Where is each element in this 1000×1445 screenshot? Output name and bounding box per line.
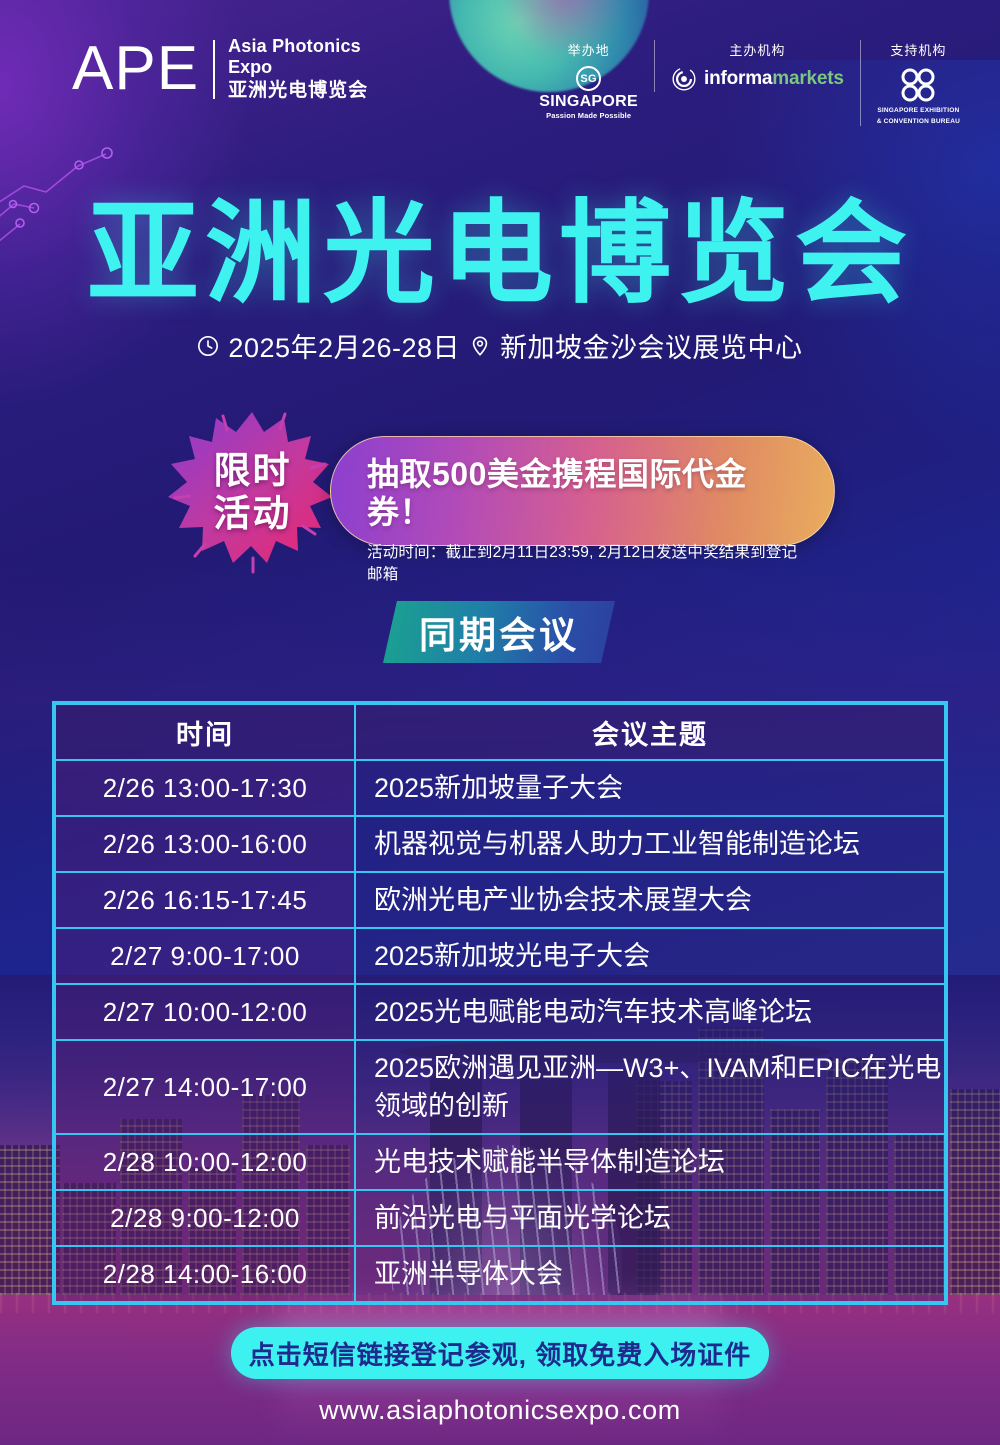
- cell-time: 2/27 10:00-12:00: [55, 984, 355, 1040]
- logo-abbreviation: APE: [72, 36, 199, 103]
- website-url[interactable]: www.asiaphotonicsexpo.com: [0, 1395, 1000, 1426]
- secb-name-line1: SINGAPORE EXHIBITION: [877, 107, 959, 115]
- secb-name-line2: & CONVENTION BUREAU: [877, 118, 960, 126]
- table-row: 2/28 10:00-12:00 光电技术赋能半导体制造论坛: [55, 1134, 945, 1190]
- column-header-topic: 会议主题: [355, 704, 945, 760]
- cell-topic: 光电技术赋能半导体制造论坛: [355, 1134, 945, 1190]
- ape-logo: APE Asia Photonics Expo 亚洲光电博览会: [72, 36, 368, 103]
- partner-organizer-label: 主办机构: [729, 40, 785, 59]
- register-cta-label: 点击短信链接登记参观, 领取免费入场证件: [249, 1335, 751, 1372]
- cell-topic: 亚洲半导体大会: [355, 1246, 945, 1302]
- cell-topic: 机器视觉与机器人助力工业智能制造论坛: [355, 816, 945, 872]
- badge-line-2: 活动: [214, 492, 292, 535]
- promo-headline: 抽取500美金携程国际代金券！: [367, 455, 808, 531]
- partner-venue: 举办地 SG SINGAPORE Passion Made Possible: [523, 40, 654, 120]
- table-row: 2/26 16:15-17:45 欧洲光电产业协会技术展望大会: [55, 872, 945, 928]
- cell-time: 2/28 10:00-12:00: [55, 1134, 355, 1190]
- cell-topic: 2025新加坡光电子大会: [355, 928, 945, 984]
- singapore-tagline: Passion Made Possible: [546, 111, 631, 120]
- event-venue: 新加坡金沙会议展览中心: [500, 326, 803, 365]
- limited-time-badge-text: 限时 活动: [214, 449, 292, 535]
- section-header-concurrent-conferences: 同期会议: [383, 601, 615, 663]
- cell-time: 2/28 9:00-12:00: [55, 1190, 355, 1246]
- logo-divider: [213, 40, 215, 99]
- badge-line-1: 限时: [214, 449, 292, 492]
- hero-block: 亚洲光电博览会 2025年2月26-28日 新加坡金沙会议展览中心: [0, 196, 1000, 365]
- singapore-wordmark: SINGAPORE: [539, 93, 638, 111]
- cell-topic: 欧洲光电产业协会技术展望大会: [355, 872, 945, 928]
- table-row: 2/27 10:00-12:00 2025光电赋能电动汽车技术高峰论坛: [55, 984, 945, 1040]
- table-body: 2/26 13:00-17:30 2025新加坡量子大会 2/26 13:00-…: [55, 760, 945, 1302]
- partner-logos: 举办地 SG SINGAPORE Passion Made Possible 主…: [523, 40, 976, 126]
- poster-header: APE Asia Photonics Expo 亚洲光电博览会 举办地 SG S…: [0, 0, 1000, 140]
- table-row: 2/28 14:00-16:00 亚洲半导体大会: [55, 1246, 945, 1302]
- column-header-time: 时间: [55, 704, 355, 760]
- markets-wordmark: markets: [772, 68, 843, 89]
- logo-english-line2: Expo: [228, 57, 368, 78]
- schedule-table: 时间 会议主题 2/26 13:00-17:30 2025新加坡量子大会 2/2…: [52, 701, 948, 1305]
- singapore-sg-badge-icon: SG: [576, 66, 601, 91]
- cell-time: 2/26 13:00-16:00: [55, 816, 355, 872]
- table-row: 2/26 13:00-16:00 机器视觉与机器人助力工业智能制造论坛: [55, 816, 945, 872]
- logo-chinese-name: 亚洲光电博览会: [228, 79, 368, 103]
- cell-time: 2/28 14:00-16:00: [55, 1246, 355, 1302]
- secb-four-circles-icon: [898, 66, 938, 104]
- informa-wordmark: informa: [704, 68, 772, 89]
- register-cta-button[interactable]: 点击短信链接登记参观, 领取免费入场证件: [231, 1327, 769, 1379]
- table-row: 2/28 9:00-12:00 前沿光电与平面光学论坛: [55, 1190, 945, 1246]
- cell-topic: 2025欧洲遇见亚洲—W3+、IVAM和EPIC在光电领域的创新: [355, 1040, 945, 1134]
- event-meta: 2025年2月26-28日 新加坡金沙会议展览中心: [0, 326, 1000, 365]
- partner-supporter: 支持机构 SINGAPORE EXHIBITION & CONVENTION B…: [860, 40, 976, 126]
- promo-subline: 活动时间：截止到2月11日23:59, 2月12日发送中奖结果到登记邮箱: [367, 540, 808, 584]
- logo-english-line1: Asia Photonics: [228, 36, 368, 57]
- page-title: 亚洲光电博览会: [0, 196, 1000, 312]
- poster-root: APE Asia Photonics Expo 亚洲光电博览会 举办地 SG S…: [0, 0, 1000, 1445]
- limited-time-badge: 限时 活动: [165, 406, 340, 578]
- informa-markets-swirl-icon: [671, 66, 697, 92]
- partner-supporter-label: 支持机构: [890, 40, 946, 59]
- cell-topic: 前沿光电与平面光学论坛: [355, 1190, 945, 1246]
- clock-icon: [197, 335, 219, 357]
- cell-time: 2/27 9:00-17:00: [55, 928, 355, 984]
- cell-time: 2/26 16:15-17:45: [55, 872, 355, 928]
- promo-banner: 限时 活动 抽取500美金携程国际代金券！ 活动时间：截止到2月11日23:59…: [0, 404, 1000, 580]
- partner-organizer: 主办机构 informamarkets: [654, 40, 860, 92]
- promo-pill: 抽取500美金携程国际代金券！ 活动时间：截止到2月11日23:59, 2月12…: [330, 436, 835, 546]
- section-title: 同期会议: [419, 605, 579, 659]
- location-pin-icon: [469, 335, 491, 357]
- table-row: 2/27 14:00-17:00 2025欧洲遇见亚洲—W3+、IVAM和EPI…: [55, 1040, 945, 1134]
- cell-topic: 2025新加坡量子大会: [355, 760, 945, 816]
- cell-topic: 2025光电赋能电动汽车技术高峰论坛: [355, 984, 945, 1040]
- cell-time: 2/27 14:00-17:00: [55, 1040, 355, 1134]
- table-header-row: 时间 会议主题: [55, 704, 945, 760]
- partner-venue-label: 举办地: [568, 40, 610, 59]
- table-row: 2/27 9:00-17:00 2025新加坡光电子大会: [55, 928, 945, 984]
- table-row: 2/26 13:00-17:30 2025新加坡量子大会: [55, 760, 945, 816]
- event-date: 2025年2月26-28日: [228, 326, 460, 365]
- cell-time: 2/26 13:00-17:30: [55, 760, 355, 816]
